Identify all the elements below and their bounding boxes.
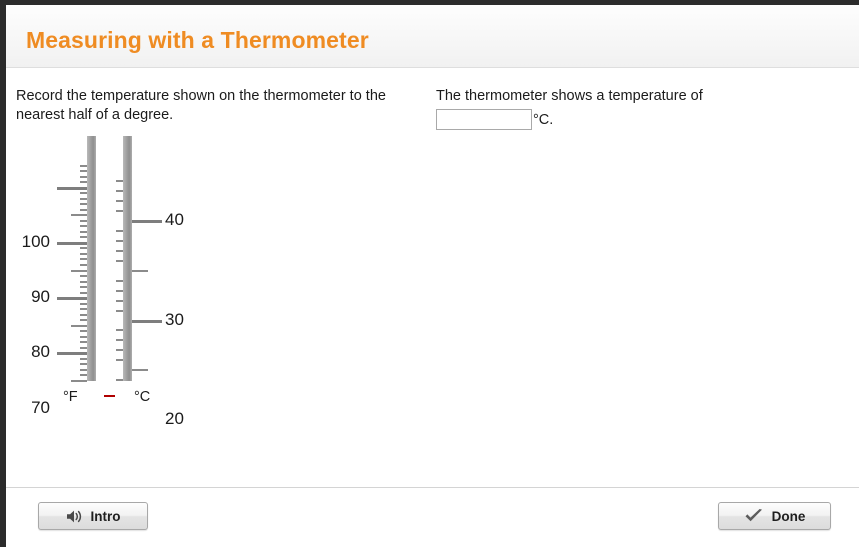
bottom-toolbar: Intro Done <box>6 487 859 548</box>
celsius-tick <box>132 369 148 371</box>
celsius-tick <box>116 200 123 202</box>
celsius-tick <box>116 240 123 242</box>
celsius-tick <box>116 190 123 192</box>
intro-button[interactable]: Intro <box>38 502 148 530</box>
fahrenheit-tick <box>80 192 87 194</box>
fahrenheit-tick <box>80 203 87 205</box>
fahrenheit-scale-label: 70 <box>6 398 50 418</box>
fahrenheit-tick <box>80 220 87 222</box>
answer-row: °C. <box>436 109 553 130</box>
mercury-column <box>104 395 115 397</box>
celsius-tick <box>116 349 123 351</box>
celsius-tick <box>116 230 123 232</box>
fahrenheit-tick <box>80 181 87 183</box>
celsius-scale-bar <box>123 136 132 381</box>
degree-celsius-unit-label: °C. <box>533 112 553 128</box>
fahrenheit-tick <box>80 281 87 283</box>
fahrenheit-tick <box>57 352 87 355</box>
fahrenheit-tick <box>80 303 87 305</box>
fahrenheit-tick <box>80 247 87 249</box>
fahrenheit-tick <box>71 270 87 272</box>
celsius-tick <box>116 300 123 302</box>
celsius-tick <box>116 210 123 212</box>
fahrenheit-tick <box>80 258 87 260</box>
intro-button-label: Intro <box>91 509 121 524</box>
instruction-text: Record the temperature shown on the ther… <box>16 87 416 125</box>
fahrenheit-tick <box>80 308 87 310</box>
celsius-tick <box>116 359 123 361</box>
temperature-answer-input[interactable] <box>436 109 532 130</box>
speaker-icon <box>66 509 83 524</box>
fahrenheit-tick <box>80 314 87 316</box>
celsius-scale-label: 20 <box>165 409 184 429</box>
fahrenheit-tick <box>80 319 87 321</box>
application-window: Measuring with a Thermometer Record the … <box>0 0 859 547</box>
celsius-tick <box>116 180 123 182</box>
fahrenheit-unit-caption: °F <box>63 389 78 405</box>
celsius-tick <box>116 280 123 282</box>
celsius-tick <box>116 290 123 292</box>
fahrenheit-tick <box>80 225 87 227</box>
fahrenheit-scale-label: 80 <box>6 342 50 362</box>
celsius-tick <box>116 250 123 252</box>
fahrenheit-tick <box>71 214 87 216</box>
fahrenheit-tick <box>80 236 87 238</box>
done-button[interactable]: Done <box>718 502 831 530</box>
question-text: The thermometer shows a temperature of <box>436 87 776 106</box>
celsius-unit-caption: °C <box>134 389 150 405</box>
celsius-tick <box>116 329 123 331</box>
fahrenheit-tick <box>57 242 87 245</box>
fahrenheit-tick <box>80 170 87 172</box>
fahrenheit-tick <box>80 369 87 371</box>
fahrenheit-tick <box>80 292 87 294</box>
fahrenheit-tick <box>80 347 87 349</box>
fahrenheit-tick <box>71 325 87 327</box>
fahrenheit-tick <box>80 165 87 167</box>
thermometer-graphic: 100908070 403020 °F °C <box>6 129 226 469</box>
fahrenheit-tick <box>80 286 87 288</box>
fahrenheit-tick <box>80 264 87 266</box>
fahrenheit-tick <box>80 330 87 332</box>
fahrenheit-tick <box>80 198 87 200</box>
fahrenheit-tick <box>57 297 87 300</box>
fahrenheit-tick <box>80 341 87 343</box>
celsius-tick <box>116 339 123 341</box>
celsius-tick <box>116 260 123 262</box>
content-area: Record the temperature shown on the ther… <box>6 69 859 486</box>
fahrenheit-tick <box>80 358 87 360</box>
page-title: Measuring with a Thermometer <box>26 27 369 54</box>
done-button-label: Done <box>772 509 806 524</box>
fahrenheit-scale-bar <box>87 136 96 381</box>
fahrenheit-tick <box>80 275 87 277</box>
celsius-tick <box>132 270 148 272</box>
celsius-scale-label: 30 <box>165 310 184 330</box>
celsius-tick <box>132 220 162 223</box>
celsius-tick <box>116 310 123 312</box>
fahrenheit-tick <box>71 380 87 382</box>
fahrenheit-scale-label: 90 <box>6 287 50 307</box>
fahrenheit-tick <box>80 363 87 365</box>
fahrenheit-tick <box>80 176 87 178</box>
celsius-tick <box>132 320 162 323</box>
checkmark-icon <box>744 508 764 524</box>
fahrenheit-tick <box>80 231 87 233</box>
celsius-tick <box>116 379 123 381</box>
header-bar: Measuring with a Thermometer <box>6 5 859 68</box>
celsius-scale-label: 40 <box>165 210 184 230</box>
fahrenheit-tick <box>80 374 87 376</box>
fahrenheit-tick <box>80 209 87 211</box>
fahrenheit-tick <box>57 187 87 190</box>
fahrenheit-tick <box>80 253 87 255</box>
fahrenheit-tick <box>80 336 87 338</box>
fahrenheit-scale-label: 100 <box>6 232 50 252</box>
